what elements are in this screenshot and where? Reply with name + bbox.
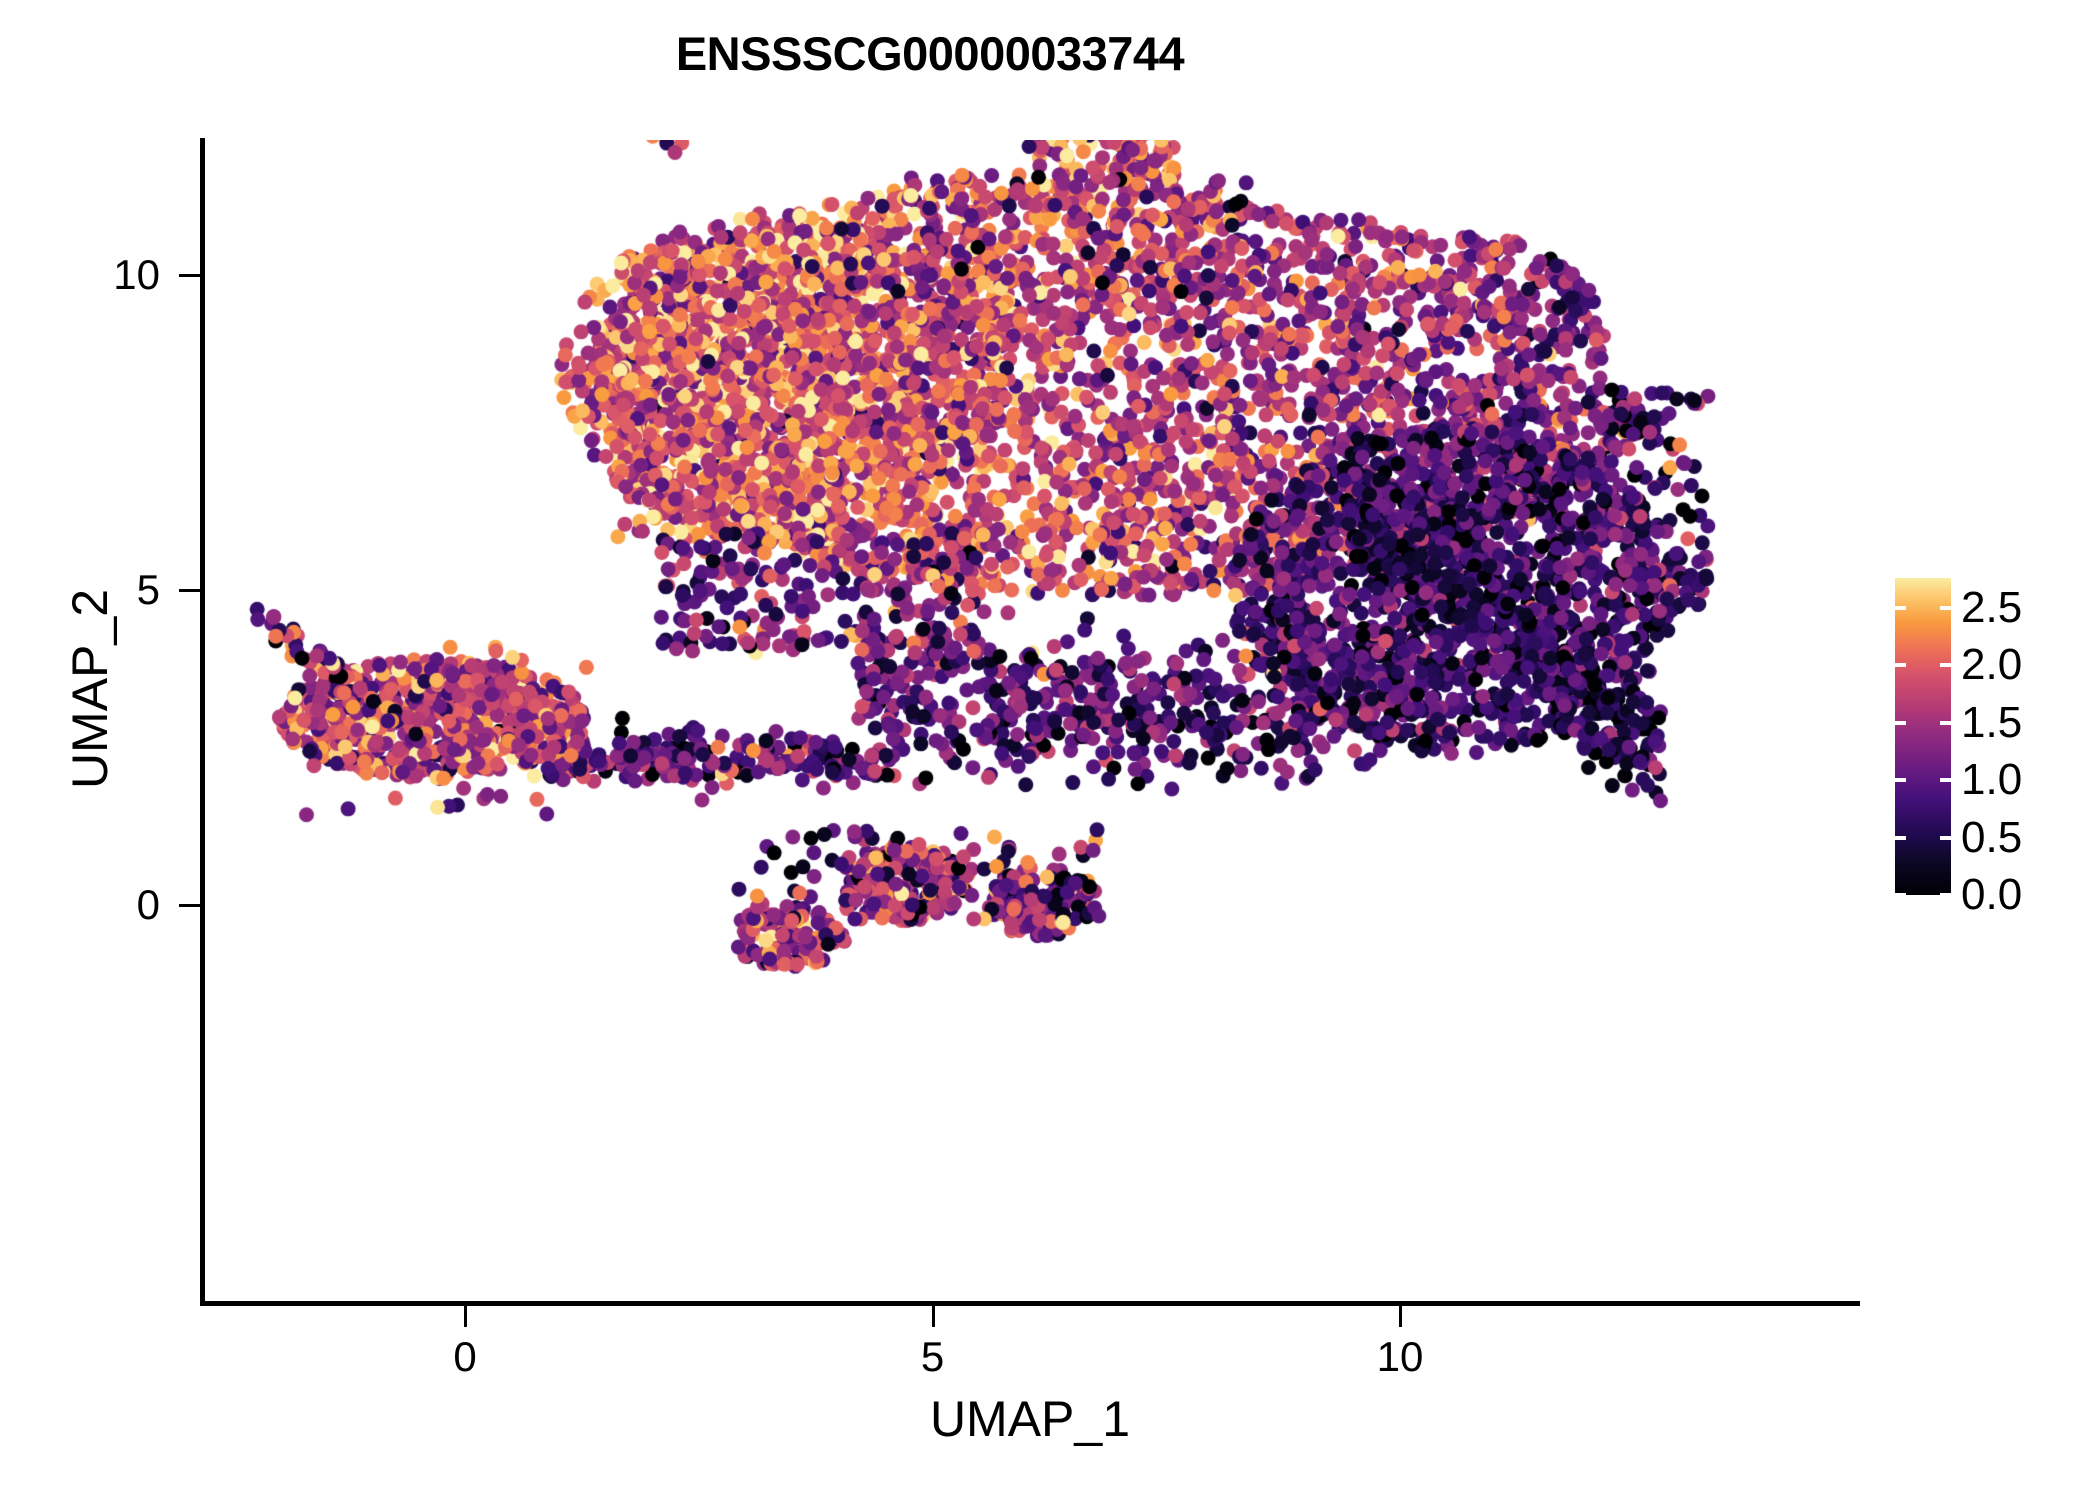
- x-tick-mark: [932, 1306, 935, 1327]
- y-tick-mark: [179, 274, 200, 277]
- colorbar-labels: 0.00.51.01.52.02.5: [1961, 578, 2091, 895]
- colorbar-tick-label: 1.5: [1961, 701, 2022, 745]
- y-tick-mark: [179, 589, 200, 592]
- colorbar-tick: [1895, 836, 1906, 840]
- colorbar-tick: [1895, 606, 1906, 610]
- colorbar-tick: [1895, 663, 1906, 667]
- colorbar-tick: [1940, 836, 1951, 840]
- plot-title: ENSSSCG00000033744: [0, 26, 1860, 81]
- x-tick-mark: [464, 1306, 467, 1327]
- y-axis-title: UMAP_2: [61, 289, 119, 1089]
- x-tick-mark: [1399, 1306, 1402, 1327]
- y-axis-line: [200, 138, 205, 1306]
- colorbar-tick: [1895, 893, 1906, 897]
- x-tick-label: 10: [1320, 1336, 1480, 1378]
- colorbar-tick: [1940, 778, 1951, 782]
- colorbar-tick: [1940, 721, 1951, 725]
- colorbar-tick: [1940, 663, 1951, 667]
- colorbar-tick-label: 2.0: [1961, 643, 2022, 687]
- scatter-plot-panel: [204, 140, 1856, 1303]
- colorbar-tick: [1940, 893, 1951, 897]
- x-tick-label: 5: [853, 1336, 1013, 1378]
- colorbar-tick-label: 1.0: [1961, 758, 2022, 802]
- colorbar-tickmarks: [1895, 578, 1951, 895]
- x-axis-line: [200, 1301, 1860, 1306]
- colorbar-tick: [1895, 721, 1906, 725]
- x-axis-title: UMAP_1: [200, 1390, 1860, 1448]
- colorbar-tick-label: 2.5: [1961, 586, 2022, 630]
- colorbar-tick: [1895, 778, 1906, 782]
- colorbar-tick-label: 0.5: [1961, 816, 2022, 860]
- y-tick-mark: [179, 904, 200, 907]
- colorbar-tick-label: 0.0: [1961, 873, 2022, 917]
- x-tick-label: 0: [385, 1336, 545, 1378]
- scatter-points-canvas: [204, 140, 1856, 1303]
- colorbar-tick: [1940, 606, 1951, 610]
